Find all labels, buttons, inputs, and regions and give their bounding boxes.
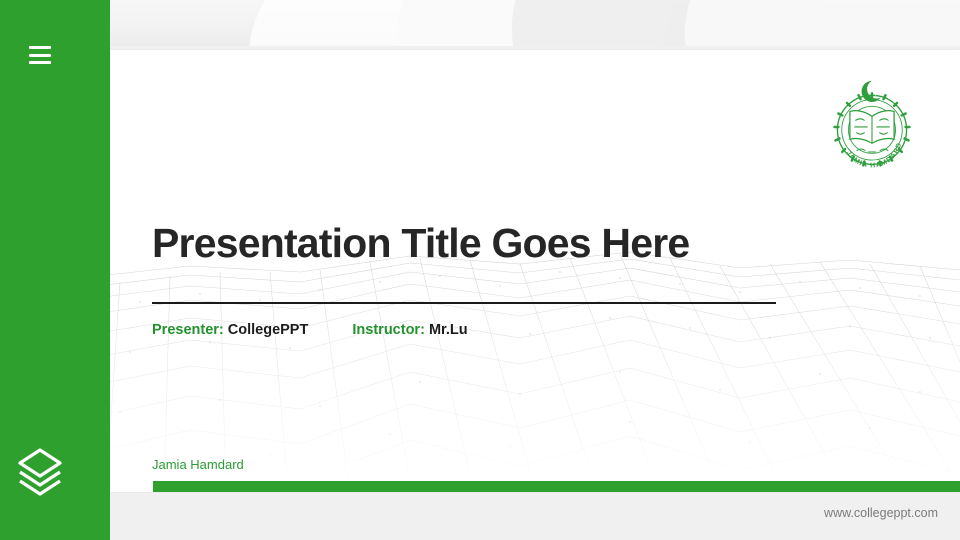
page-title: Presentation Title Goes Here: [152, 222, 852, 265]
slide-accent-bar: [153, 481, 960, 492]
decorative-swoosh: [646, 0, 960, 46]
viewer-top-band: [0, 0, 960, 46]
footer-url: www.collegeppt.com: [824, 506, 938, 520]
logo-arc-text: JAMIA HAMDARD: [844, 141, 903, 169]
jamia-hamdard-university-logo: JAMIA HAMDARD: [824, 78, 920, 174]
hamburger-line: [29, 54, 51, 57]
organization-name: Jamia Hamdard: [152, 457, 244, 472]
slide-canvas[interactable]: JAMIA HAMDARD Presentation Title Goes He…: [80, 50, 960, 492]
hamburger-line: [29, 61, 51, 64]
svg-text:JAMIA HAMDARD: JAMIA HAMDARD: [844, 141, 903, 169]
hamburger-menu-icon[interactable]: [29, 46, 51, 64]
hamburger-line: [29, 46, 51, 49]
instructor-value: Mr.Lu: [429, 322, 468, 338]
layers-stack-icon[interactable]: [16, 446, 64, 498]
viewer-bottom-band: [0, 492, 960, 540]
left-rail: [0, 0, 110, 540]
wireframe-terrain-graphic: [80, 242, 960, 492]
presentation-viewer: www.collegeppt.com: [0, 0, 960, 540]
byline: Presenter: CollegePPT Instructor: Mr.Lu: [152, 322, 468, 338]
presenter-label: Presenter:: [152, 322, 224, 338]
presenter-value: CollegePPT: [228, 322, 309, 338]
title-divider: [152, 302, 776, 304]
instructor-label: Instructor:: [352, 322, 425, 338]
